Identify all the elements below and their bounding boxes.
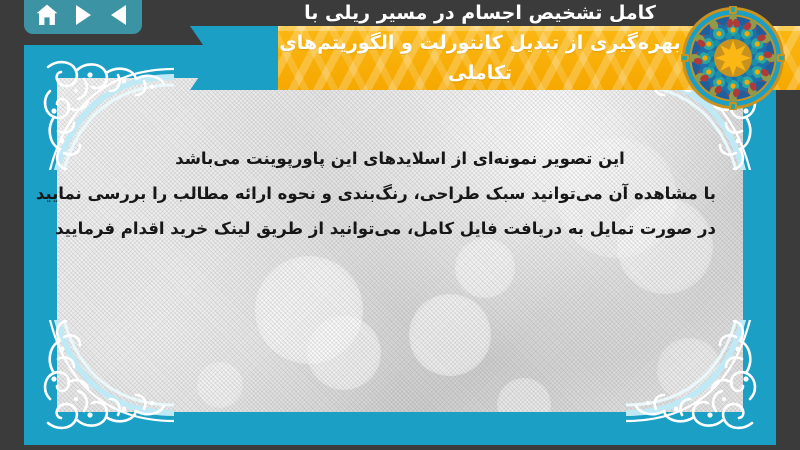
slide-viewer: این تصویر نمونه‌ای از اسلایدهای این پاور… <box>0 0 800 450</box>
bokeh-circle <box>409 294 491 376</box>
bokeh-circle <box>255 256 363 364</box>
bokeh-circle <box>497 378 551 412</box>
triangle-left-icon <box>109 4 129 26</box>
bokeh-circle <box>657 338 721 402</box>
body-line: با مشاهده آن می‌توانید سبک طراحی، رنگ‌بن… <box>84 176 716 211</box>
bokeh-circle <box>307 316 381 390</box>
body-line: این تصویر نمونه‌ای از اسلایدهای این پاور… <box>84 141 716 176</box>
body-line: در صورت تمایل به دریافت فایل کامل، می‌تو… <box>84 211 716 246</box>
slide-navigation-bar <box>24 0 142 34</box>
persian-medallion-ornament <box>681 6 785 110</box>
bokeh-circle <box>197 362 243 408</box>
slide-canvas: این تصویر نمونه‌ای از اسلایدهای این پاور… <box>24 45 776 445</box>
home-button[interactable] <box>34 2 60 28</box>
next-slide-button[interactable] <box>70 2 96 28</box>
slide-body-text: این تصویر نمونه‌ای از اسلایدهای این پاور… <box>84 141 716 246</box>
bokeh-circle <box>455 238 515 298</box>
triangle-right-icon <box>73 4 93 26</box>
previous-slide-button[interactable] <box>106 2 132 28</box>
page-title: کامل تشخیص اجسام در مسیر ریلی با بهره‌گی… <box>200 0 760 88</box>
home-icon <box>35 3 59 27</box>
